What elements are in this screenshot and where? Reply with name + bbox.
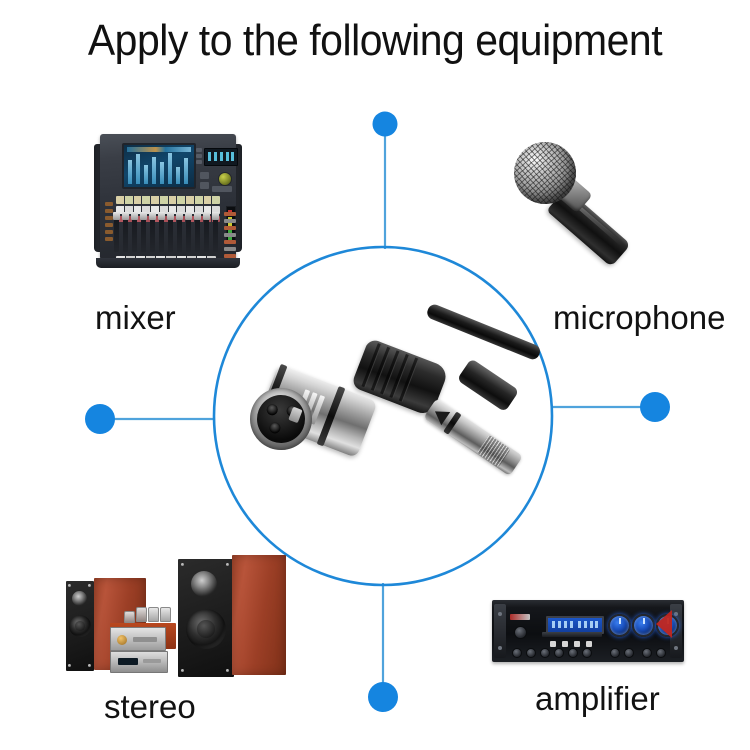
amplifier-brand-logo [510, 614, 530, 620]
node-dot-stereo [85, 404, 115, 434]
infographic-page: Apply to the following equipment mixer m… [0, 0, 750, 750]
amplifier-red-accent [656, 610, 672, 638]
node-dot-mixer [373, 112, 398, 137]
mixer-function-button [212, 186, 232, 192]
quarter-inch-plug-boot [457, 358, 520, 412]
tweeter-icon [191, 571, 217, 597]
mixer-right-buttons [224, 212, 238, 260]
rack-ear-left [494, 604, 506, 658]
mixer-lcd-readout [204, 148, 238, 166]
label-amplifier: amplifier [535, 680, 660, 718]
mixer-display [122, 143, 196, 189]
mixer-chassis [100, 134, 236, 262]
amplifier-image [492, 600, 684, 662]
plug-knurled-grip [477, 435, 511, 468]
mixer-fader-bank [114, 212, 222, 256]
amplifier-media-slot [542, 632, 602, 637]
stereo-cd-player [110, 651, 168, 673]
label-microphone: microphone [553, 299, 725, 337]
mixer-channel-row-top [116, 196, 220, 204]
quarter-inch-ts-plug [423, 398, 523, 476]
mixer-image [92, 128, 244, 273]
microphone-grille [514, 142, 576, 204]
stereo-amp-faceplate [110, 627, 166, 651]
woofer-icon [186, 609, 226, 649]
mixer-left-buttons [105, 202, 115, 244]
product-cable-image [232, 300, 532, 525]
xlr-pin-1 [265, 403, 279, 417]
microphone-body-group [500, 126, 660, 262]
mixer-main-knob [218, 172, 232, 186]
mixer-function-button [200, 172, 209, 179]
xlr-pin-3 [268, 421, 282, 435]
amp-volume-knob [117, 635, 127, 645]
mixer-base [96, 258, 240, 268]
mixer-function-button [200, 182, 209, 189]
node-dot-amplifier [368, 682, 398, 712]
stereo-speaker-right-cabinet [232, 555, 286, 675]
node-dot-microphone [640, 392, 670, 422]
amplifier-front-panel [492, 600, 684, 662]
amplifier-echo-knob [632, 614, 655, 637]
stereo-speaker-right-baffle [178, 559, 234, 677]
cable-cord [425, 303, 542, 362]
woofer-icon [69, 615, 91, 637]
amplifier-small-knob [514, 626, 527, 639]
amplifier-mic-volume-knob [608, 614, 631, 637]
stereo-image [62, 545, 290, 687]
plug-tip [431, 405, 451, 426]
stereo-speaker-left-baffle [66, 581, 94, 671]
label-mixer: mixer [95, 299, 176, 337]
microphone-image [500, 126, 660, 262]
tweeter-icon [72, 591, 87, 606]
label-stereo: stereo [104, 688, 196, 726]
